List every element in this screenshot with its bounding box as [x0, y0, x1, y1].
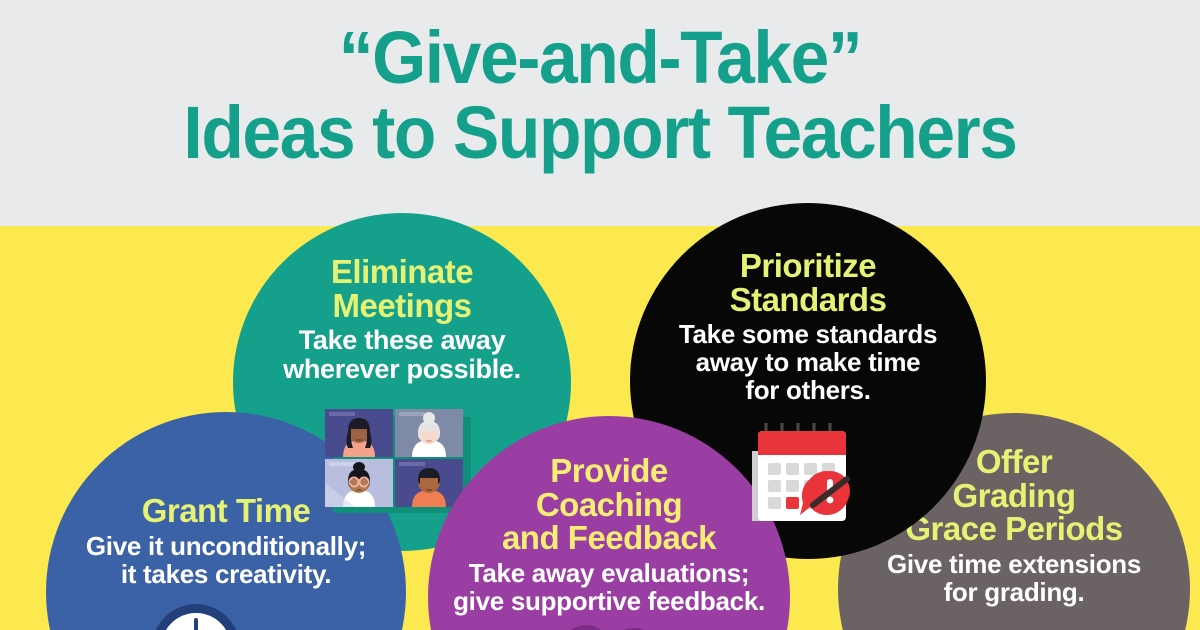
circle-provide-coaching-title-line-3: and Feedback — [434, 521, 784, 555]
circle-provide-coaching-title-line-1: Provide — [434, 454, 784, 488]
circle-provide-coaching-title: Provide Coaching and Feedback — [434, 454, 784, 555]
circle-offer-grading-subtitle-line-2: for grading. — [844, 578, 1184, 606]
circle-prioritize-standards-title-line-1: Prioritize — [636, 249, 980, 283]
circle-eliminate-meetings-title: Eliminate Meetings — [239, 255, 565, 322]
circle-prioritize-standards-subtitle: Take some standards away to make time fo… — [636, 320, 980, 404]
circle-prioritize-standards-subtitle-line-2: away to make time — [636, 348, 980, 376]
circle-provide-coaching-subtitle-line-2: give supportive feedback. — [434, 587, 784, 615]
circle-eliminate-meetings-subtitle-line-2: wherever possible. — [239, 355, 565, 384]
circle-grant-time-subtitle-line-1: Give it unconditionally; — [52, 532, 400, 560]
circle-prioritize-standards-subtitle-line-3: for others. — [636, 376, 980, 404]
circle-eliminate-meetings-title-line-1: Eliminate — [239, 255, 565, 289]
clock-icon — [148, 600, 244, 630]
calendar-icon — [748, 421, 860, 525]
circle-provide-coaching-title-line-2: Coaching — [434, 488, 784, 522]
circle-provide-coaching-subtitle-line-1: Take away evaluations; — [434, 559, 784, 587]
circle-provide-coaching-subtitle: Take away evaluations; give supportive f… — [434, 559, 784, 615]
circle-offer-grading-subtitle: Give time extensions for grading. — [844, 550, 1184, 606]
header-band — [0, 0, 1200, 226]
circle-provide-coaching-content: Provide Coaching and Feedback Take away … — [428, 454, 790, 615]
circle-prioritize-standards-title: Prioritize Standards — [636, 249, 980, 316]
chat-bubbles-icon — [560, 614, 664, 630]
infographic-poster: “Give-and-Take” Ideas to Support Teacher… — [0, 0, 1200, 630]
circle-prioritize-standards-title-line-2: Standards — [636, 283, 980, 317]
circle-grant-time-subtitle-line-2: it takes creativity. — [52, 560, 400, 588]
circle-eliminate-meetings-content: Eliminate Meetings Take these away where… — [233, 255, 571, 385]
circle-eliminate-meetings-title-line-2: Meetings — [239, 289, 565, 323]
circle-eliminate-meetings-subtitle-line-1: Take these away — [239, 326, 565, 355]
circle-offer-grading-subtitle-line-1: Give time extensions — [844, 550, 1184, 578]
circle-prioritize-standards-content: Prioritize Standards Take some standards… — [630, 249, 986, 405]
circle-grant-time-subtitle: Give it unconditionally; it takes creati… — [52, 532, 400, 588]
circle-eliminate-meetings-subtitle: Take these away wherever possible. — [239, 326, 565, 384]
circle-prioritize-standards-subtitle-line-1: Take some standards — [636, 320, 980, 348]
